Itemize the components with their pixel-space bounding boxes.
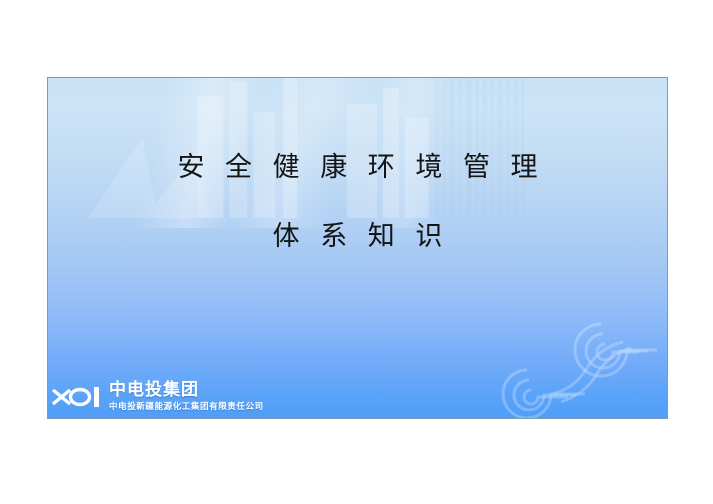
slide-title-line-2: 体 系 知 识 (48, 223, 667, 250)
presentation-slide: 安 全 健 康 环 境 管 理 体 系 知 识 中电投集团 中电投新疆能源化工集… (47, 77, 668, 419)
screenshot-canvas: 安 全 健 康 环 境 管 理 体 系 知 识 中电投集团 中电投新疆能源化工集… (0, 0, 713, 504)
auspicious-cloud-swirl (483, 298, 668, 419)
logo-text-block: 中电投集团 中电投新疆能源化工集团有限责任公司 (109, 382, 264, 412)
slide-title-line-1: 安 全 健 康 环 境 管 理 (48, 154, 667, 181)
company-name: 中电投集团 (109, 382, 264, 399)
cpi-logo-mark (50, 384, 104, 410)
company-logo-lockup: 中电投集团 中电投新疆能源化工集团有限责任公司 (50, 382, 264, 412)
company-subtitle: 中电投新疆能源化工集团有限责任公司 (109, 403, 264, 412)
slide-title-block: 安 全 健 康 环 境 管 理 体 系 知 识 (48, 154, 667, 250)
